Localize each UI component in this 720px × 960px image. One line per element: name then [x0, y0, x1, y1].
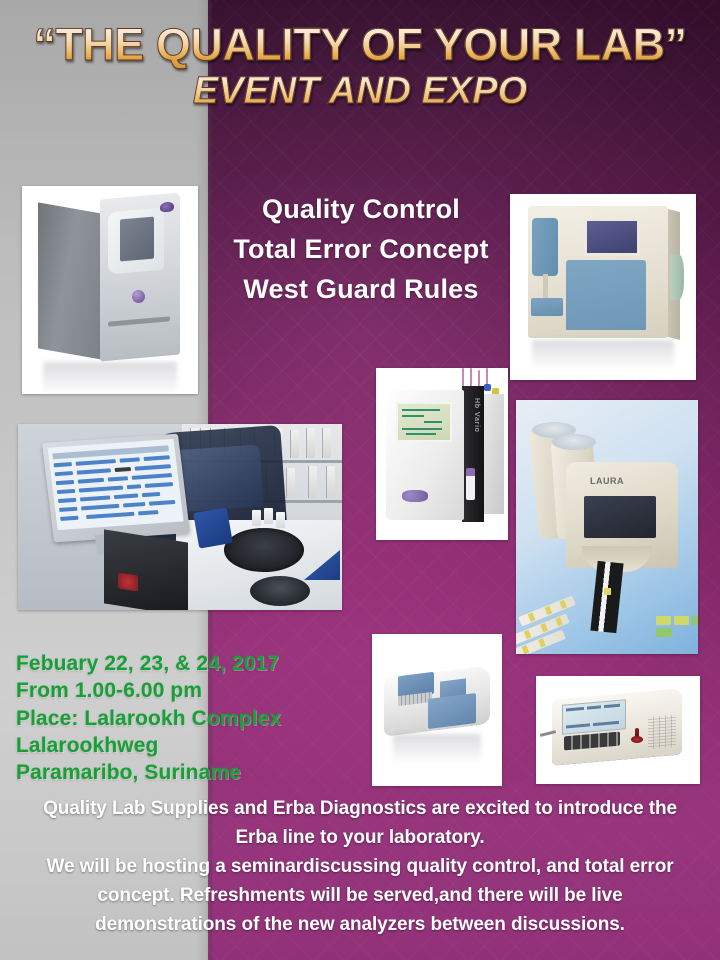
photo-hb-vario-analyzer: Hb Vario	[376, 368, 508, 540]
poster-description-block: Quality Lab Supplies and Erba Diagnostic…	[10, 795, 710, 939]
topic-item: Total Error Concept	[206, 230, 516, 270]
event-detail-street: Lalarookhweg	[16, 732, 416, 759]
poster-title-main: “THE QUALITY OF YOUR LAB”	[0, 22, 720, 68]
topic-list: Quality Control Total Error Concept West…	[206, 190, 516, 310]
event-detail-time: From 1.00-6.00 pm	[16, 677, 416, 704]
analyzer-dial-icon	[132, 290, 145, 303]
event-detail-date: Febuary 22, 23, & 24, 2017	[16, 650, 416, 677]
event-detail-place: Place: Lalarookh Complex	[16, 705, 416, 732]
device-label-laura: LAURA	[590, 476, 624, 486]
photo-clinical-chemistry-workstation	[18, 424, 342, 610]
description-line: We will be hosting a seminardiscussing q…	[10, 853, 710, 882]
photo-blood-gas-analyzer	[510, 194, 696, 380]
poster-title-subtitle: EVENT AND EXPO	[0, 70, 720, 113]
device-label-hb-vario: Hb Vario	[464, 398, 480, 446]
photo-coagulation-analyzer	[536, 676, 700, 784]
description-line: Quality Lab Supplies and Erba Diagnostic…	[10, 795, 710, 824]
workstation-monitor-icon	[42, 434, 190, 543]
description-line: Erba line to your laboratory.	[10, 824, 710, 853]
poster-title-block: “THE QUALITY OF YOUR LAB” EVENT AND EXPO	[0, 22, 720, 113]
photo-urine-strip-analyzer: LAURA	[516, 400, 698, 654]
description-line: concept. Refreshments will be served,and…	[10, 882, 710, 911]
topic-item: Quality Control	[206, 190, 516, 230]
topic-item: West Guard Rules	[206, 270, 516, 310]
photo-hematology-analyzer	[22, 186, 198, 394]
event-details-block: Febuary 22, 23, & 24, 2017 From 1.00-6.0…	[16, 650, 416, 786]
poster-canvas: “THE QUALITY OF YOUR LAB” EVENT AND EXPO…	[0, 0, 720, 960]
joystick-icon	[631, 728, 643, 742]
description-line: demonstrations of the new analyzers betw…	[10, 911, 710, 940]
event-detail-city: Paramaribo, Suriname	[16, 759, 416, 786]
